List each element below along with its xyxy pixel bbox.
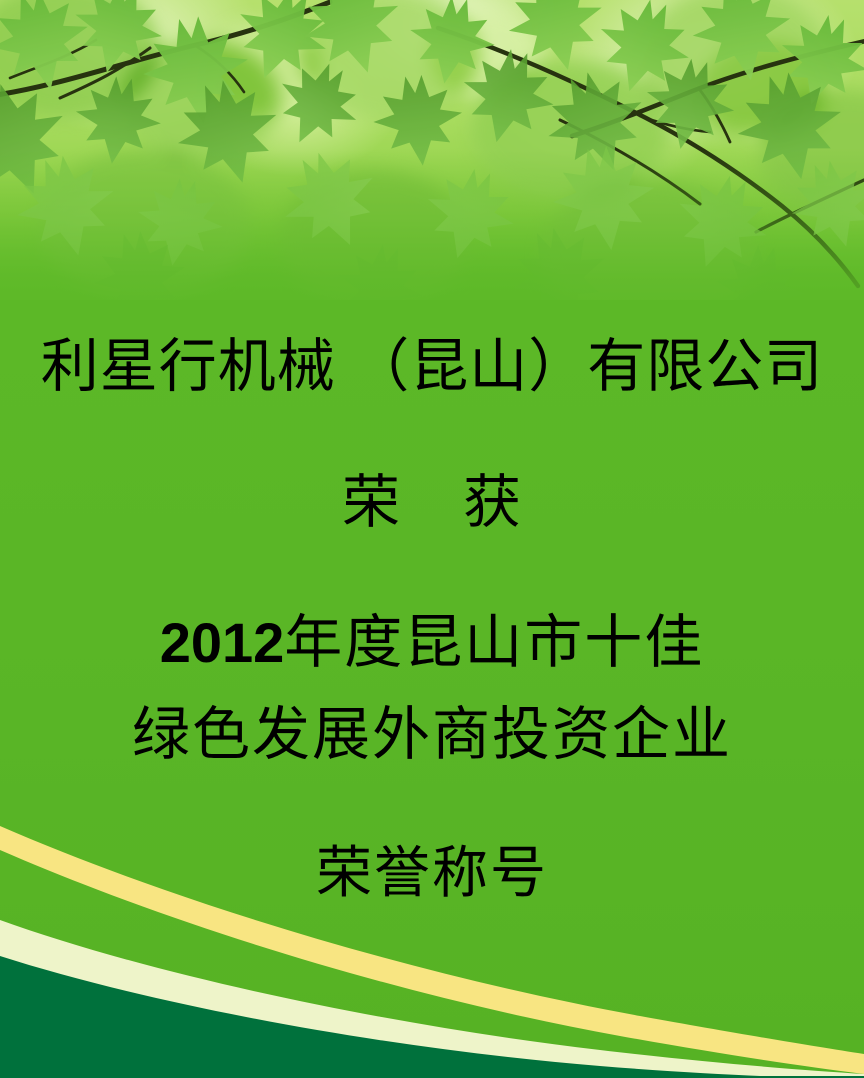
award-title-line-1: 2012年度昆山市十佳 [0, 614, 864, 672]
company-name-line: 利星行机械 （昆山）有限公司 [0, 338, 864, 396]
award-verb-line: 荣 获 [0, 474, 864, 532]
award-year: 2012 [160, 611, 285, 674]
award-title-line-1-rest: 年度昆山市十佳 [284, 610, 704, 675]
certificate-slide: 利星行机械 （昆山）有限公司 荣 获 2012年度昆山市十佳 绿色发展外商投资企… [0, 0, 864, 1078]
award-title-line-2: 绿色发展外商投资企业 [0, 706, 864, 764]
bottom-ribbon-swoosh [0, 808, 864, 1078]
